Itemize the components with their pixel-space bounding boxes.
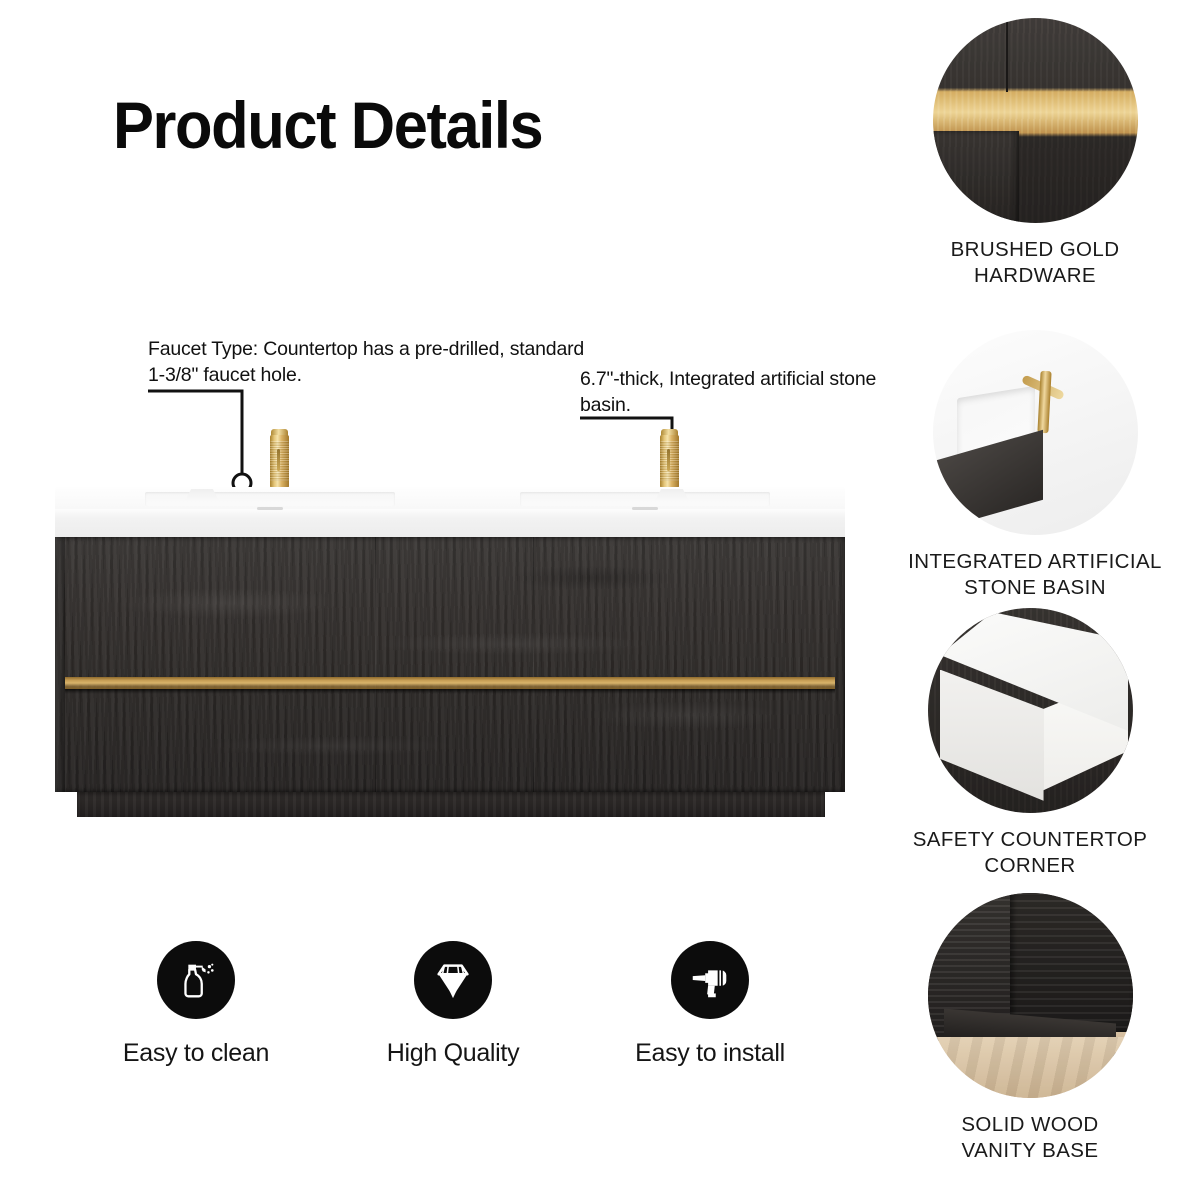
detail-image-countertop-corner [928, 608, 1133, 813]
basin-closeup-art [933, 330, 1138, 535]
page-title: Product Details [113, 92, 542, 158]
detail-image-vanity-base [928, 893, 1133, 1098]
feature-label: High Quality [367, 1039, 539, 1068]
feature-label: Easy to clean [110, 1039, 282, 1068]
callout-faucet-text: Faucet Type: Countertop has a pre-drille… [148, 336, 598, 388]
diamond-badge [414, 941, 492, 1019]
wood-texture [933, 18, 1138, 223]
detail-card-brushed-gold-hardware: BRUSHED GOLD HARDWARE [885, 18, 1185, 289]
detail-card-integrated-stone-basin: INTEGRATED ARTIFICIAL STONE BASIN [885, 330, 1185, 601]
diamond-icon [430, 957, 476, 1003]
faucet-lever [277, 449, 280, 471]
detail-card-label: SOLID WOOD VANITY BASE [880, 1112, 1180, 1164]
integrated-stone-countertop [55, 487, 845, 539]
vanity-base-plinth [77, 792, 825, 817]
sink-bowl-left [145, 492, 395, 506]
detail-label-line-2: STONE BASIN [964, 576, 1106, 599]
detail-card-safety-countertop-corner: SAFETY COUNTERTOP CORNER [880, 608, 1180, 879]
gold-handle-bar [65, 677, 835, 689]
wood-grain-texture [55, 537, 845, 792]
drawer-seam [533, 537, 534, 792]
detail-label-line-2: CORNER [984, 854, 1075, 877]
base-right-panel [1010, 893, 1133, 1032]
gold-handle-closeup-art [933, 18, 1138, 223]
spray-bottle-badge [157, 941, 235, 1019]
callout-basin-text: 6.7"-thick, Integrated artificial stone … [580, 366, 910, 418]
sink-bowl-right [520, 492, 770, 506]
detail-image-gold-hardware [933, 18, 1138, 223]
drain-right [632, 507, 658, 510]
detail-label-line-1: SOLID WOOD [961, 1113, 1098, 1136]
drill-badge [671, 941, 749, 1019]
detail-card-label: SAFETY COUNTERTOP CORNER [880, 827, 1180, 879]
detail-card-label: BRUSHED GOLD HARDWARE [885, 237, 1185, 289]
drill-icon [687, 957, 733, 1003]
product-details-page: Product Details Faucet Type: Countertop … [0, 0, 1200, 1200]
detail-label-line-2: VANITY BASE [962, 1139, 1099, 1162]
feature-easy-to-install: Easy to install [624, 941, 796, 1068]
countertop-corner-art [928, 608, 1133, 813]
vanity-cabinet [55, 537, 845, 792]
vanity-base-art [928, 893, 1133, 1098]
detail-card-label: INTEGRATED ARTIFICIAL STONE BASIN [885, 549, 1185, 601]
detail-label-line-2: HARDWARE [974, 264, 1096, 287]
faucet-column [1037, 371, 1051, 433]
feature-label: Easy to install [624, 1039, 796, 1068]
wood-floor [928, 1037, 1133, 1099]
drain-left [257, 507, 283, 510]
feature-high-quality: High Quality [367, 941, 539, 1068]
detail-label-line-1: SAFETY COUNTERTOP [913, 828, 1148, 851]
detail-label-line-1: INTEGRATED ARTIFICIAL [908, 550, 1162, 573]
leader-line-faucet [140, 385, 260, 495]
faucet-lever [667, 449, 670, 471]
detail-card-solid-wood-vanity-base: SOLID WOOD VANITY BASE [880, 893, 1180, 1164]
spray-bottle-icon [173, 957, 219, 1003]
detail-image-stone-basin [933, 330, 1138, 535]
cabinet-left-edge [55, 537, 65, 792]
feature-easy-to-clean: Easy to clean [110, 941, 282, 1068]
vanity-illustration [55, 487, 845, 817]
handle-shadow [65, 689, 835, 694]
detail-label-line-1: BRUSHED GOLD [951, 238, 1120, 261]
faucet-right [660, 429, 679, 491]
cabinet-edge [933, 430, 1044, 535]
drawer-seam [375, 537, 376, 792]
faucet-left [270, 429, 289, 491]
